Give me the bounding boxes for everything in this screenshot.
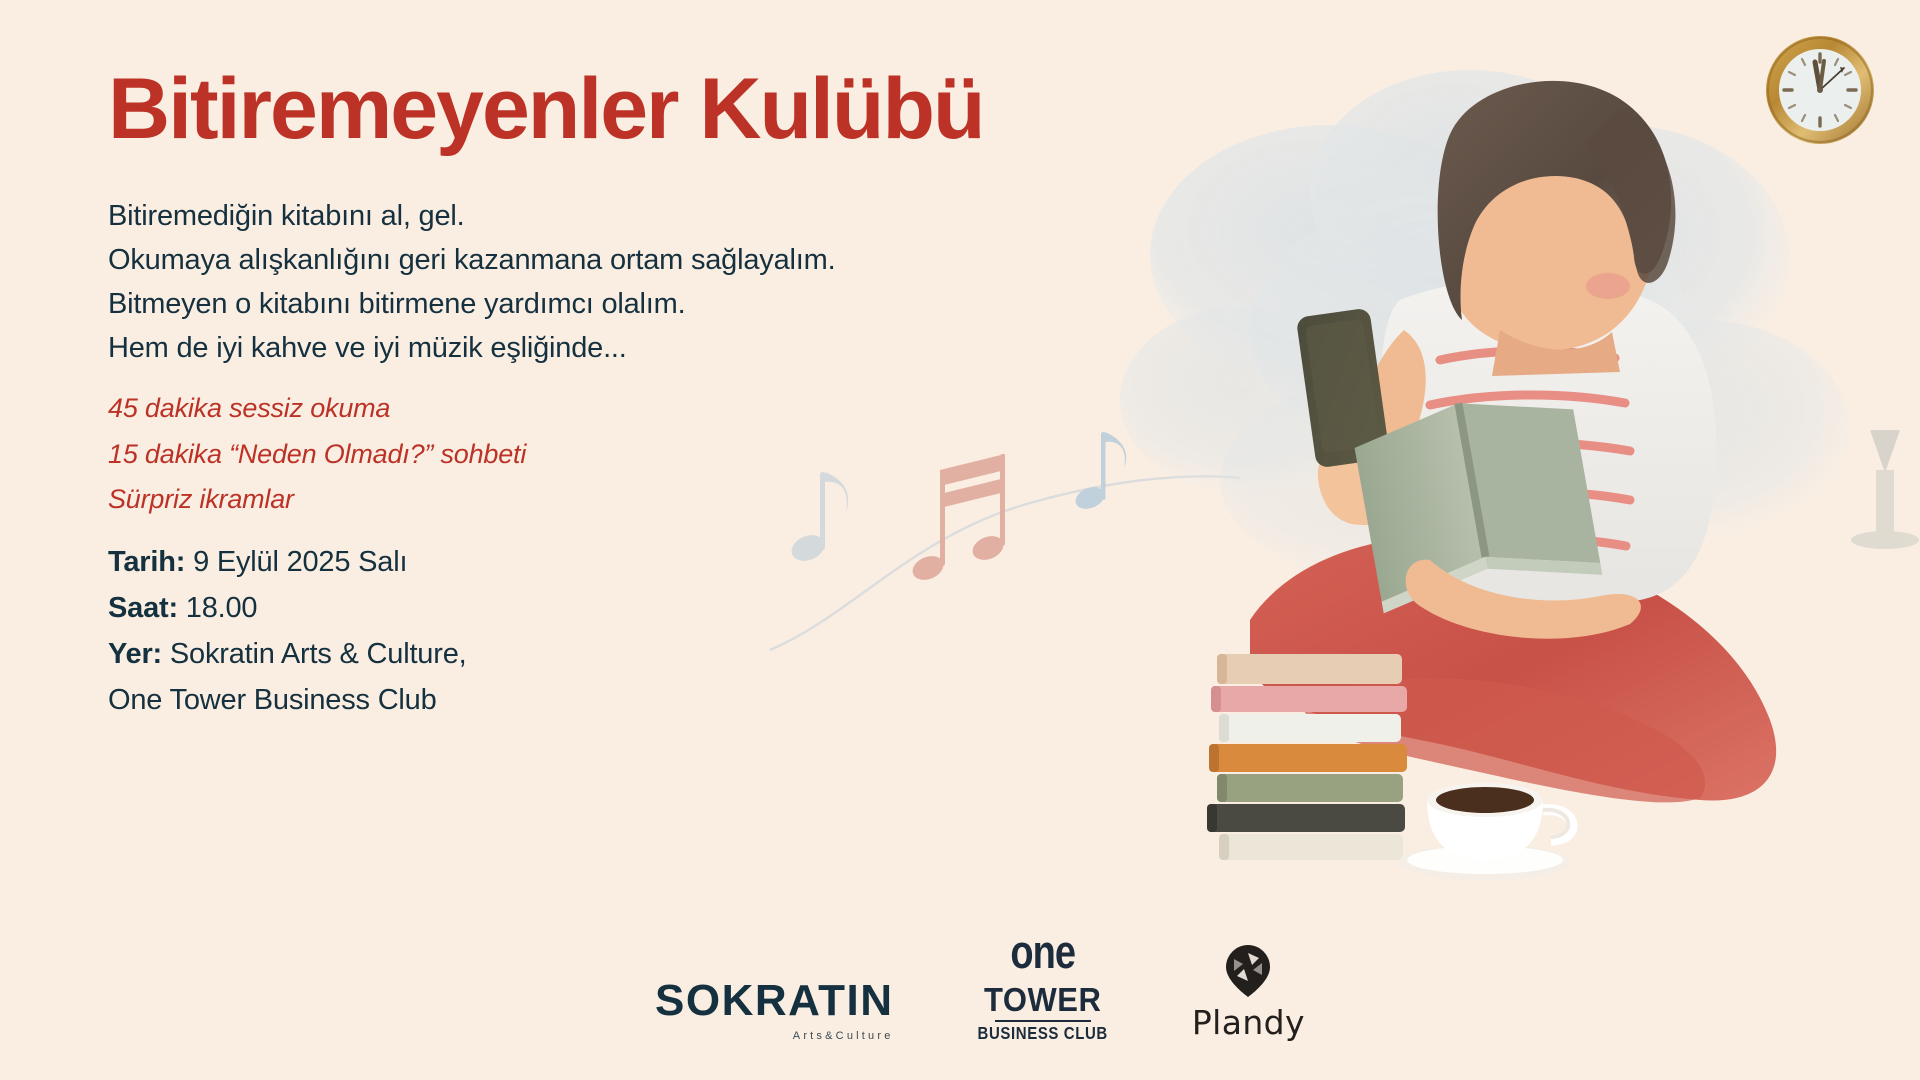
one-tower-tower: TOWER [984, 982, 1101, 1019]
detail-value: Sokratin Arts & Culture, [170, 638, 467, 670]
one-tower-club: BUSINESS CLUB [978, 1023, 1108, 1043]
highlight-item: Sürpriz ikramlar [108, 477, 1168, 522]
sponsor-logos: SOKRATIN Arts&Culture one TOWER BUSINESS… [0, 941, 1920, 1042]
highlights-list: 45 dakika sessiz okuma 15 dakika “Neden … [108, 386, 1168, 522]
poster-content: Bitiremeyenler Kulübü Bitiremediğin kita… [108, 66, 1168, 724]
event-details: Tarih: 9 Eylül 2025 Salı Saat: 18.00 Yer… [108, 540, 1168, 723]
detail-date: Tarih: 9 Eylül 2025 Salı [108, 540, 1168, 586]
intro-line: Bitmeyen o kitabını bitirmene yardımcı o… [108, 282, 1168, 326]
poster-canvas: Bitiremeyenler Kulübü Bitiremediğin kita… [0, 0, 1920, 1080]
plandy-wordmark: Plandy [1192, 1003, 1305, 1042]
intro-line: Bitiremediğin kitabını al, gel. [108, 194, 1168, 238]
detail-venue-second: One Tower Business Club [108, 678, 1168, 724]
plandy-logo[interactable]: Plandy [1192, 945, 1305, 1042]
highlight-item: 15 dakika “Neden Olmadı?” sohbeti [108, 432, 1168, 477]
intro-paragraph: Bitiremediğin kitabını al, gel. Okumaya … [108, 194, 1168, 370]
detail-label: Saat: [108, 592, 178, 624]
sokratin-tagline: Arts&Culture [793, 1030, 894, 1042]
sokratin-wordmark: SOKRATIN [655, 979, 894, 1023]
detail-value: 18.00 [186, 592, 258, 624]
intro-line: Okumaya alışkanlığını geri kazanmana ort… [108, 238, 1168, 282]
one-tower-divider [995, 1020, 1091, 1022]
highlight-item: 45 dakika sessiz okuma [108, 386, 1168, 431]
detail-value: One Tower Business Club [108, 684, 437, 716]
detail-value: 9 Eylül 2025 Salı [193, 546, 407, 578]
pin-aperture-icon [1226, 945, 1270, 997]
one-tower-one: one [1010, 933, 1075, 974]
watercolor-clock-icon [1760, 28, 1880, 153]
sokratin-logo[interactable]: SOKRATIN Arts&Culture [655, 979, 894, 1042]
detail-label: Tarih: [108, 546, 185, 578]
intro-line: Hem de iyi kahve ve iyi müzik eşliğinde.… [108, 326, 1168, 370]
detail-label: Yer: [108, 638, 162, 670]
one-tower-logo[interactable]: one TOWER BUSINESS CLUB [978, 941, 1108, 1042]
detail-time: Saat: 18.00 [108, 586, 1168, 632]
page-title: Bitiremeyenler Kulübü [108, 66, 1168, 152]
detail-venue: Yer: Sokratin Arts & Culture, [108, 632, 1168, 678]
books-and-coffee-illustration [1195, 640, 1615, 900]
